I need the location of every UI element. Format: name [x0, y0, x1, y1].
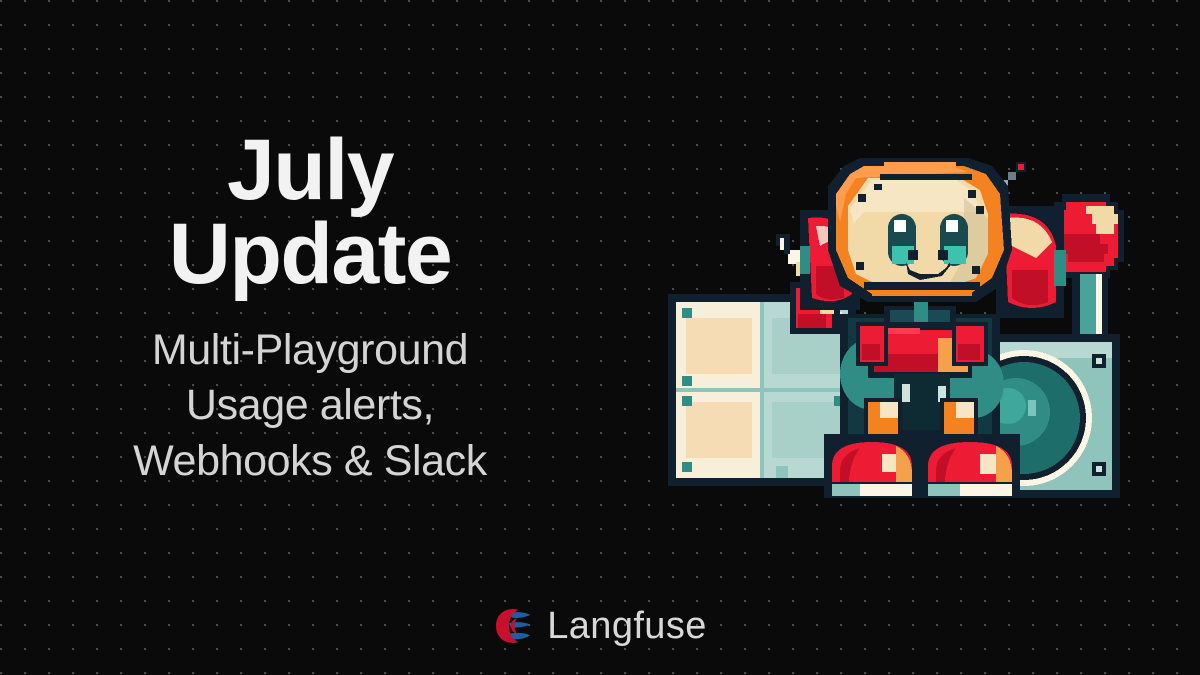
- brand-name: Langfuse: [547, 607, 707, 645]
- robot-head: [828, 158, 1012, 302]
- page-title: July Update: [0, 128, 620, 297]
- headline-line-2: Update: [0, 212, 620, 296]
- subtitle-line-3: Webhooks & Slack: [0, 434, 620, 490]
- brand-lockup: Langfuse: [0, 606, 1200, 646]
- subtitle-line-1: Multi-Playground: [0, 323, 620, 379]
- headline-line-1: July: [0, 128, 620, 212]
- robot-illustration: [648, 118, 1132, 518]
- langfuse-logo-icon: [493, 606, 533, 646]
- text-column: July Update Multi-Playground Usage alert…: [0, 128, 620, 490]
- subtitle: Multi-Playground Usage alerts, Webhooks …: [0, 323, 620, 491]
- slide-canvas: July Update Multi-Playground Usage alert…: [0, 0, 1200, 675]
- subtitle-line-2: Usage alerts,: [0, 378, 620, 434]
